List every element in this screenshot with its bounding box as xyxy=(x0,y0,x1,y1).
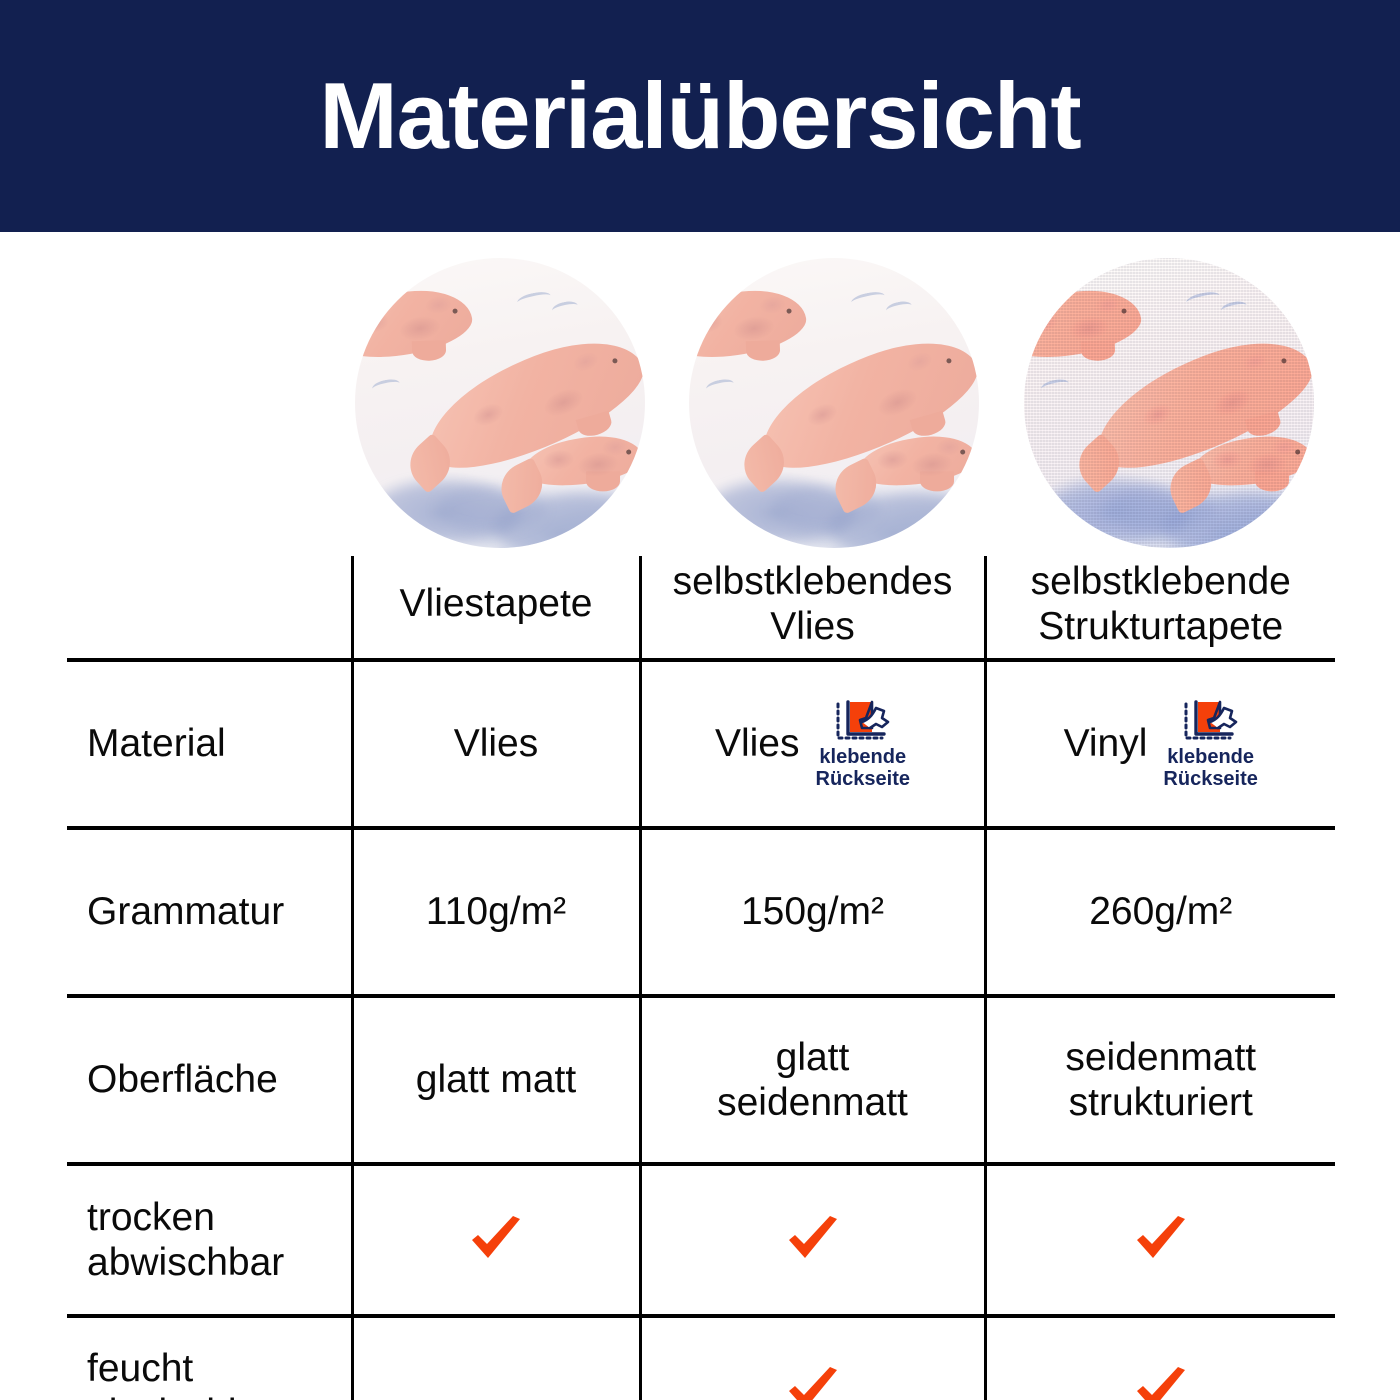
cell-trocken-selbstklebendes-vlies xyxy=(640,1164,985,1316)
cell-value: Vlies xyxy=(715,721,800,766)
adhesive-backing-badge: klebende Rückseite xyxy=(816,698,911,791)
empty-value xyxy=(360,1391,633,1392)
row-grammatur: Grammatur 110g/m² 150g/m² 260g/m² xyxy=(67,828,1335,996)
adhesive-backing-icon xyxy=(832,698,894,744)
sample-selbstklebendes-vlies xyxy=(689,258,979,548)
row-material: Material Vlies Vlies xyxy=(67,660,1335,828)
cell-grammatur-selbstklebende-strukturtapete: 260g/m² xyxy=(985,828,1335,996)
cell-value: 260g/m² xyxy=(1089,890,1232,933)
bird-icon xyxy=(517,289,553,308)
material-sample-gallery xyxy=(352,258,1336,554)
row-label-trocken-abwischbar: trocken abwischbar xyxy=(67,1164,352,1316)
sample-selbstklebende-strukturtapete xyxy=(1024,258,1314,548)
row-label-material: Material xyxy=(67,660,352,828)
cell-value: glatt matt xyxy=(416,1058,576,1101)
check-icon xyxy=(467,1216,525,1264)
column-header-selbstklebendes-vlies: selbstklebendes Vlies xyxy=(640,556,985,660)
cell-trocken-selbstklebende-strukturtapete xyxy=(985,1164,1335,1316)
row-trocken-abwischbar: trocken abwischbar xyxy=(67,1164,1335,1316)
row-oberflaeche: Oberfläche glatt matt glatt seidenmatt s… xyxy=(67,996,1335,1164)
bird-icon xyxy=(705,377,735,395)
column-header-selbstklebende-strukturtapete: selbstklebende Strukturtapete xyxy=(985,556,1335,660)
adhesive-backing-icon xyxy=(1180,698,1242,744)
bird-icon xyxy=(551,299,579,316)
cell-grammatur-selbstklebendes-vlies: 150g/m² xyxy=(640,828,985,996)
whale-shape xyxy=(689,281,810,366)
page-header-banner: Materialübersicht xyxy=(0,0,1400,232)
cell-value: glatt seidenmatt xyxy=(717,1036,908,1124)
cell-grammatur-vliestapete: 110g/m² xyxy=(352,828,640,996)
cell-oberflaeche-selbstklebendes-vlies: glatt seidenmatt xyxy=(640,996,985,1164)
cell-feucht-selbstklebendes-vlies xyxy=(640,1316,985,1400)
cell-value: seidenmatt strukturiert xyxy=(1065,1036,1256,1124)
cell-value: Vinyl xyxy=(1064,721,1148,766)
page-title: Materialübersicht xyxy=(319,69,1080,163)
row-label-oberflaeche: Oberfläche xyxy=(67,996,352,1164)
cell-value: Vlies xyxy=(454,721,539,766)
check-icon xyxy=(784,1216,842,1264)
row-label-feucht-abwischbar: feucht abwischbar xyxy=(67,1316,352,1400)
bird-icon xyxy=(371,377,401,395)
check-icon xyxy=(1132,1216,1190,1264)
cell-feucht-selbstklebende-strukturtapete xyxy=(985,1316,1335,1400)
column-header-label: selbstklebende Strukturtapete xyxy=(1031,560,1291,648)
cell-trocken-vliestapete xyxy=(352,1164,640,1316)
cell-material-selbstklebendes-vlies: Vlies klebende Rückseite xyxy=(640,660,985,828)
table-header-corner xyxy=(67,556,352,660)
material-spec-table-wrapper: Vliestapete selbstklebendes Vlies selbst… xyxy=(67,556,1335,1400)
bird-icon xyxy=(851,289,887,308)
cell-material-selbstklebende-strukturtapete: Vinyl klebende Rückseite xyxy=(985,660,1335,828)
row-label-grammatur: Grammatur xyxy=(67,828,352,996)
column-header-label: Vliestapete xyxy=(400,582,593,625)
cell-feucht-vliestapete xyxy=(352,1316,640,1400)
sample-vliestapete xyxy=(355,258,645,548)
material-overview-page: Materialübersicht xyxy=(0,0,1400,1400)
row-feucht-abwischbar: feucht abwischbar xyxy=(67,1316,1335,1400)
whale-pattern-artwork xyxy=(355,258,645,548)
adhesive-backing-label: klebende Rückseite xyxy=(816,746,911,791)
adhesive-backing-label: klebende Rückseite xyxy=(1163,746,1258,791)
fabric-texture-overlay xyxy=(1024,258,1314,548)
check-icon xyxy=(784,1367,842,1400)
cell-oberflaeche-vliestapete: glatt matt xyxy=(352,996,640,1164)
adhesive-backing-badge: klebende Rückseite xyxy=(1163,698,1258,791)
check-icon xyxy=(1132,1367,1190,1400)
bird-icon xyxy=(885,299,913,316)
cell-value: 110g/m² xyxy=(426,890,566,933)
cell-value: 150g/m² xyxy=(741,890,884,933)
whale-shape xyxy=(355,281,476,366)
whale-pattern-artwork xyxy=(689,258,979,548)
table-header-row: Vliestapete selbstklebendes Vlies selbst… xyxy=(67,556,1335,660)
column-header-label: selbstklebendes Vlies xyxy=(673,560,953,648)
material-spec-table: Vliestapete selbstklebendes Vlies selbst… xyxy=(67,556,1335,1400)
cell-material-vliestapete: Vlies xyxy=(352,660,640,828)
column-header-vliestapete: Vliestapete xyxy=(352,556,640,660)
cell-oberflaeche-selbstklebende-strukturtapete: seidenmatt strukturiert xyxy=(985,996,1335,1164)
